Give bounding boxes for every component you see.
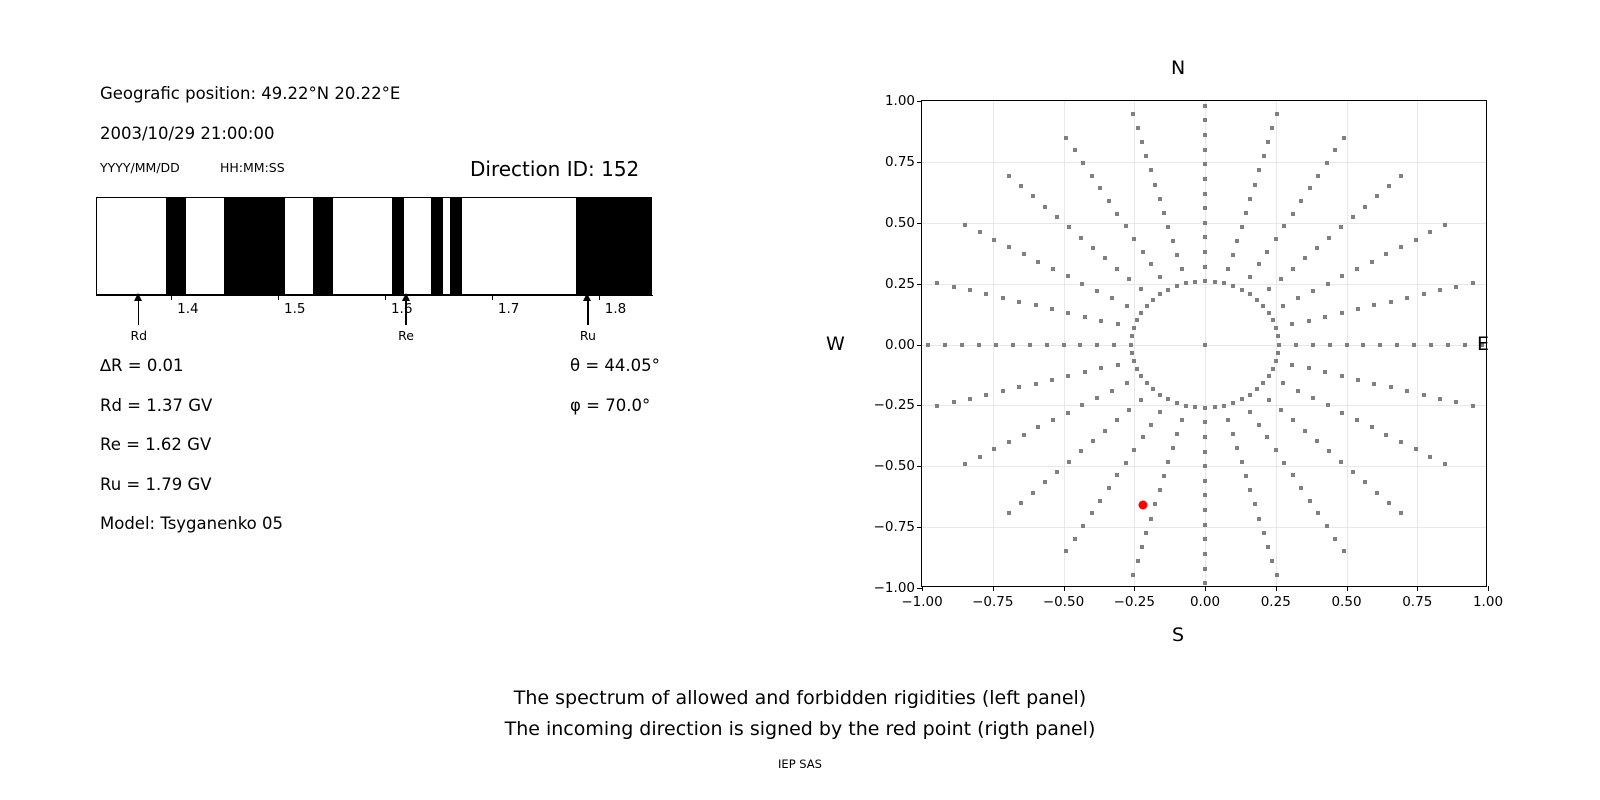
direction-point xyxy=(992,447,996,451)
direction-point xyxy=(1345,343,1349,347)
direction-point xyxy=(1162,211,1166,215)
direction-point xyxy=(1267,374,1271,378)
x-tick xyxy=(1134,586,1135,591)
direction-point xyxy=(1414,447,1418,451)
direction-point xyxy=(1275,573,1279,577)
direction-point xyxy=(1213,405,1217,409)
direction-point xyxy=(1231,284,1235,288)
direction-point xyxy=(1051,267,1055,271)
rigidity-tick xyxy=(385,295,386,300)
direction-point xyxy=(1158,393,1162,397)
direction-point xyxy=(1333,148,1337,152)
parameter-left-1: Rd = 1.37 GV xyxy=(100,396,212,415)
direction-point xyxy=(1307,319,1311,323)
direction-point xyxy=(1139,287,1143,291)
direction-point xyxy=(1139,398,1143,402)
direction-point xyxy=(1375,491,1379,495)
direction-point xyxy=(1291,473,1295,477)
direction-point xyxy=(1323,370,1327,374)
marker-label-ru: Ru xyxy=(580,328,596,343)
direction-point xyxy=(1099,319,1103,323)
direction-point xyxy=(1327,236,1331,240)
direction-point xyxy=(1095,289,1099,293)
direction-point xyxy=(1279,277,1283,281)
direction-point xyxy=(1226,418,1230,422)
direction-point xyxy=(1151,298,1155,302)
direction-point xyxy=(1422,292,1426,296)
direction-point xyxy=(1127,277,1131,281)
direction-point xyxy=(968,288,972,292)
gridline-horizontal xyxy=(922,284,1486,285)
direction-point xyxy=(1291,418,1295,422)
direction-point xyxy=(1308,186,1312,190)
direction-point xyxy=(1316,174,1320,178)
direction-point xyxy=(1203,464,1207,468)
caption-line-1: The spectrum of allowed and forbidden ri… xyxy=(0,687,1600,709)
direction-point xyxy=(1141,250,1145,254)
selected-direction-point[interactable] xyxy=(1138,501,1147,510)
direction-point xyxy=(1253,183,1257,187)
direction-point xyxy=(1405,296,1409,300)
direction-point xyxy=(1079,236,1083,240)
direction-point xyxy=(1055,470,1059,474)
direction-point xyxy=(1066,411,1070,415)
rigidity-tick xyxy=(599,295,600,300)
direction-point xyxy=(1193,405,1197,409)
direction-point xyxy=(1149,262,1153,266)
direction-point xyxy=(1308,499,1312,503)
direction-point xyxy=(1454,400,1458,404)
direction-point xyxy=(1112,343,1116,347)
direction-point xyxy=(1203,148,1207,152)
direction-point xyxy=(1279,408,1283,412)
direction-point xyxy=(926,343,930,347)
direction-point xyxy=(1203,206,1207,210)
direction-point xyxy=(1290,363,1294,367)
direction-point xyxy=(1017,300,1021,304)
direction-point xyxy=(1149,423,1153,427)
direction-point xyxy=(935,281,939,285)
direction-point xyxy=(1066,374,1070,378)
direction-point xyxy=(1132,448,1136,452)
direction-point xyxy=(1051,418,1055,422)
direction-point xyxy=(1091,439,1095,443)
y-tick-label: 0.50 xyxy=(885,215,922,231)
marker-arrowhead-re xyxy=(402,293,410,301)
direction-point xyxy=(1274,237,1278,241)
direction-point xyxy=(1271,318,1275,322)
direction-point xyxy=(1180,418,1184,422)
direction-point xyxy=(1389,300,1393,304)
direction-point xyxy=(1132,237,1136,241)
direction-point xyxy=(1139,311,1143,315)
direction-point xyxy=(1007,174,1011,178)
direction-point xyxy=(1339,460,1343,464)
forbidden-band xyxy=(450,198,462,294)
direction-point xyxy=(1080,282,1084,286)
direction-point xyxy=(1166,225,1170,229)
direction-point xyxy=(1132,326,1136,330)
direction-point xyxy=(1203,279,1207,283)
direction-point xyxy=(1081,524,1085,528)
direction-point xyxy=(1019,184,1023,188)
rigidity-tick-label: 1.6 xyxy=(391,301,412,317)
compass-west-label: W xyxy=(826,333,845,355)
direction-point xyxy=(1184,281,1188,285)
direction-point xyxy=(1231,253,1235,257)
direction-point xyxy=(1140,140,1144,144)
direction-point xyxy=(1203,406,1207,410)
x-tick-label: −1.00 xyxy=(901,594,942,610)
direction-point xyxy=(1115,212,1119,216)
direction-point xyxy=(1203,435,1207,439)
direction-point xyxy=(1399,245,1403,249)
direction-point xyxy=(1277,343,1281,347)
direction-point xyxy=(963,462,967,466)
date-format-hint: YYYY/MM/DD xyxy=(100,160,180,175)
direction-point xyxy=(1175,253,1179,257)
direction-point xyxy=(1062,343,1066,347)
direction-point xyxy=(1151,387,1155,391)
direction-point xyxy=(1255,298,1259,302)
direction-point xyxy=(1166,397,1170,401)
marker-arrow-rd xyxy=(138,299,139,325)
parameter-left-2: Re = 1.62 GV xyxy=(100,435,211,454)
direction-point xyxy=(1375,194,1379,198)
direction-point xyxy=(1080,403,1084,407)
direction-point xyxy=(1267,398,1271,402)
direction-point xyxy=(1099,366,1103,370)
direction-point xyxy=(1351,470,1355,474)
direction-point xyxy=(1226,267,1230,271)
direction-point xyxy=(1387,184,1391,188)
direction-point xyxy=(1248,275,1252,279)
direction-point xyxy=(1001,389,1005,393)
direction-point xyxy=(1115,473,1119,477)
direction-point xyxy=(1203,235,1207,239)
direction-point xyxy=(1073,537,1077,541)
direction-point xyxy=(1203,581,1207,585)
direction-point xyxy=(1261,304,1265,308)
direction-point xyxy=(1130,334,1134,338)
direction-point xyxy=(978,230,982,234)
rigidity-axis-line xyxy=(96,295,653,296)
direction-point xyxy=(1372,382,1376,386)
direction-point xyxy=(1050,378,1054,382)
direction-point xyxy=(1131,112,1135,116)
direction-point xyxy=(1438,397,1442,401)
compass-south-label: S xyxy=(1172,624,1184,646)
rigidity-tick xyxy=(492,295,493,300)
direction-point xyxy=(1043,205,1047,209)
direction-point xyxy=(1471,404,1475,408)
direction-point xyxy=(1262,531,1266,535)
direction-point xyxy=(1231,432,1235,436)
direction-point xyxy=(1291,267,1295,271)
rigidity-tick-label: 1.4 xyxy=(177,301,198,317)
direction-point xyxy=(1307,366,1311,370)
datetime-label: 2003/10/29 21:00:00 xyxy=(100,124,274,143)
direction-point xyxy=(1090,511,1094,515)
direction-point xyxy=(1248,410,1252,414)
direction-point xyxy=(1240,397,1244,401)
direction-point xyxy=(1043,480,1047,484)
direction-point xyxy=(1050,307,1054,311)
parameter-left-0: ∆R = 0.01 xyxy=(100,356,184,375)
direction-point xyxy=(1083,315,1087,319)
direction-point xyxy=(1136,559,1140,563)
direction-point xyxy=(1276,351,1280,355)
direction-point xyxy=(1098,499,1102,503)
direction-point xyxy=(1257,168,1261,172)
direction-point xyxy=(1158,410,1162,414)
direction-point xyxy=(1116,322,1120,326)
direction-point xyxy=(1323,315,1327,319)
direction-point xyxy=(1011,343,1015,347)
direction-point xyxy=(984,393,988,397)
forbidden-band xyxy=(166,198,187,294)
direction-point xyxy=(1235,446,1239,450)
direction-point xyxy=(1098,186,1102,190)
direction-point xyxy=(1034,382,1038,386)
parameter-left-3: Ru = 1.79 GV xyxy=(100,475,212,494)
direction-point xyxy=(1124,461,1128,465)
direction-point xyxy=(1222,281,1226,285)
y-tick-label: 0.00 xyxy=(885,337,922,353)
direction-point xyxy=(1079,449,1083,453)
compass-east-label: E xyxy=(1477,333,1489,355)
direction-point xyxy=(1296,389,1300,393)
direction-point xyxy=(1255,387,1259,391)
direction-point xyxy=(1203,493,1207,497)
direction-point xyxy=(1299,486,1303,490)
direction-point xyxy=(1180,267,1184,271)
direction-point xyxy=(1073,148,1077,152)
direction-point xyxy=(1311,343,1315,347)
direction-point xyxy=(1257,517,1261,521)
direction-point xyxy=(1340,311,1344,315)
x-tick-label: 1.00 xyxy=(1473,594,1503,610)
x-tick-label: −0.75 xyxy=(972,594,1013,610)
parameter-left-4: Model: Tsyganenko 05 xyxy=(100,514,283,533)
direction-point xyxy=(963,223,967,227)
direction-point xyxy=(1203,192,1207,196)
direction-point xyxy=(1282,461,1286,465)
rigidity-tick xyxy=(278,295,279,300)
direction-point xyxy=(1240,225,1244,229)
y-tick-label: −0.50 xyxy=(874,458,922,474)
direction-point xyxy=(1149,168,1153,172)
direction-point xyxy=(984,292,988,296)
direction-point xyxy=(1055,215,1059,219)
direction-point xyxy=(1171,239,1175,243)
direction-point xyxy=(1274,359,1278,363)
direction-point xyxy=(1081,161,1085,165)
direction-point xyxy=(1291,212,1295,216)
direction-point xyxy=(1443,223,1447,227)
direction-point xyxy=(1266,140,1270,144)
x-tick xyxy=(922,586,923,591)
direction-point xyxy=(1203,523,1207,527)
x-tick xyxy=(1417,586,1418,591)
marker-label-rd: Rd xyxy=(130,328,147,343)
direction-point xyxy=(1175,432,1179,436)
direction-point xyxy=(1144,531,1148,535)
direction-point xyxy=(1067,460,1071,464)
direction-point xyxy=(1066,274,1070,278)
direction-point xyxy=(1153,502,1157,506)
x-tick xyxy=(1205,586,1206,591)
direction-point xyxy=(1370,425,1374,429)
direction-point xyxy=(1372,303,1376,307)
direction-point xyxy=(1022,433,1026,437)
direction-point xyxy=(1340,374,1344,378)
direction-point xyxy=(1135,318,1139,322)
direction-point xyxy=(1162,474,1166,478)
x-tick-label: 0.25 xyxy=(1261,594,1291,610)
direction-point xyxy=(1340,411,1344,415)
direction-point xyxy=(1125,381,1129,385)
direction-point xyxy=(1248,292,1252,296)
direction-point xyxy=(1326,403,1330,407)
direction-point xyxy=(1262,154,1266,158)
direction-point xyxy=(1158,197,1162,201)
gridline-vertical xyxy=(1134,101,1135,586)
direction-point xyxy=(935,404,939,408)
direction-point xyxy=(1240,288,1244,292)
rigidity-tick xyxy=(171,295,172,300)
direction-point xyxy=(1342,136,1346,140)
direction-point xyxy=(952,285,956,289)
direction-point xyxy=(1007,245,1011,249)
direction-point xyxy=(1454,285,1458,289)
direction-point xyxy=(1203,552,1207,556)
rigidity-tick-label: 1.5 xyxy=(284,301,305,317)
direction-point xyxy=(1356,307,1360,311)
compass-north-label: N xyxy=(1171,57,1185,79)
direction-point xyxy=(1158,292,1162,296)
direction-point xyxy=(1203,537,1207,541)
direction-point xyxy=(1325,524,1329,528)
direction-point xyxy=(1110,296,1114,300)
direction-point xyxy=(1045,343,1049,347)
direction-point xyxy=(994,343,998,347)
direction-point xyxy=(1265,250,1269,254)
direction-point xyxy=(1414,238,1418,242)
direction-point xyxy=(1095,396,1099,400)
direction-point xyxy=(1078,343,1082,347)
direction-point xyxy=(1031,194,1035,198)
figure-canvas: Geografic position: 49.22°N 20.22°E 2003… xyxy=(0,0,1600,800)
direction-point xyxy=(943,343,947,347)
direction-point xyxy=(1325,161,1329,165)
direction-point xyxy=(1036,425,1040,429)
rigidity-tick-label: 1.8 xyxy=(605,301,626,317)
direction-point xyxy=(1110,389,1114,393)
direction-point xyxy=(1428,230,1432,234)
direction-point xyxy=(1351,215,1355,219)
scatter-axes: −1.00−0.75−0.50−0.250.000.250.500.751.00… xyxy=(921,100,1487,587)
direction-point xyxy=(1203,420,1207,424)
direction-point xyxy=(1130,351,1134,355)
direction-point xyxy=(1213,280,1217,284)
direction-point xyxy=(1412,343,1416,347)
direction-scatter-panel: −1.00−0.75−0.50−0.250.000.250.500.751.00… xyxy=(921,100,1487,587)
direction-point xyxy=(1240,460,1244,464)
direction-point xyxy=(1203,508,1207,512)
direction-point xyxy=(1428,455,1432,459)
direction-point xyxy=(1438,288,1442,292)
direction-point xyxy=(1145,381,1149,385)
direction-point xyxy=(1290,322,1294,326)
direction-point xyxy=(1131,573,1135,577)
direction-point xyxy=(952,400,956,404)
direction-point xyxy=(1311,396,1315,400)
direction-point xyxy=(1244,474,1248,478)
direction-point xyxy=(1019,501,1023,505)
x-tick-label: −0.50 xyxy=(1043,594,1084,610)
x-tick xyxy=(1064,586,1065,591)
direction-point xyxy=(1124,224,1128,228)
direction-point xyxy=(1363,480,1367,484)
direction-point xyxy=(1384,433,1388,437)
direction-point xyxy=(1342,549,1346,553)
direction-point xyxy=(1107,199,1111,203)
direction-point xyxy=(1103,256,1107,260)
direction-point xyxy=(1132,359,1136,363)
marker-label-re: Re xyxy=(398,328,414,343)
direction-point xyxy=(1395,343,1399,347)
direction-point xyxy=(1149,517,1153,521)
direction-point xyxy=(1116,363,1120,367)
direction-point xyxy=(1422,393,1426,397)
direction-point xyxy=(1203,265,1207,269)
direction-point xyxy=(1127,408,1131,412)
direction-point xyxy=(1193,280,1197,284)
caption-line-2: The incoming direction is signed by the … xyxy=(0,718,1600,740)
direction-point xyxy=(1261,381,1265,385)
y-tick-label: −0.75 xyxy=(874,519,922,535)
direction-point xyxy=(1203,221,1207,225)
direction-point xyxy=(1175,401,1179,405)
direction-point xyxy=(1140,545,1144,549)
direction-point xyxy=(1370,260,1374,264)
direction-point xyxy=(1294,343,1298,347)
direction-point xyxy=(1429,343,1433,347)
x-tick xyxy=(1347,586,1348,591)
direction-point xyxy=(977,343,981,347)
x-tick xyxy=(1276,586,1277,591)
x-tick xyxy=(993,586,994,591)
direction-point xyxy=(1064,136,1068,140)
direction-point xyxy=(1311,289,1315,293)
direction-point xyxy=(1471,281,1475,285)
marker-arrowhead-rd xyxy=(134,293,142,301)
direction-point xyxy=(1107,486,1111,490)
direction-point xyxy=(1266,545,1270,549)
direction-point xyxy=(1153,183,1157,187)
direction-point xyxy=(1463,343,1467,347)
direction-point xyxy=(1139,374,1143,378)
gridline-vertical xyxy=(1417,101,1418,586)
marker-arrowhead-ru xyxy=(583,293,591,301)
direction-point xyxy=(1145,304,1149,308)
direction-point xyxy=(1363,205,1367,209)
direction-point xyxy=(1203,450,1207,454)
footer-credit: IEP SAS xyxy=(0,757,1600,771)
direction-point xyxy=(1257,423,1261,427)
direction-point xyxy=(1270,126,1274,130)
